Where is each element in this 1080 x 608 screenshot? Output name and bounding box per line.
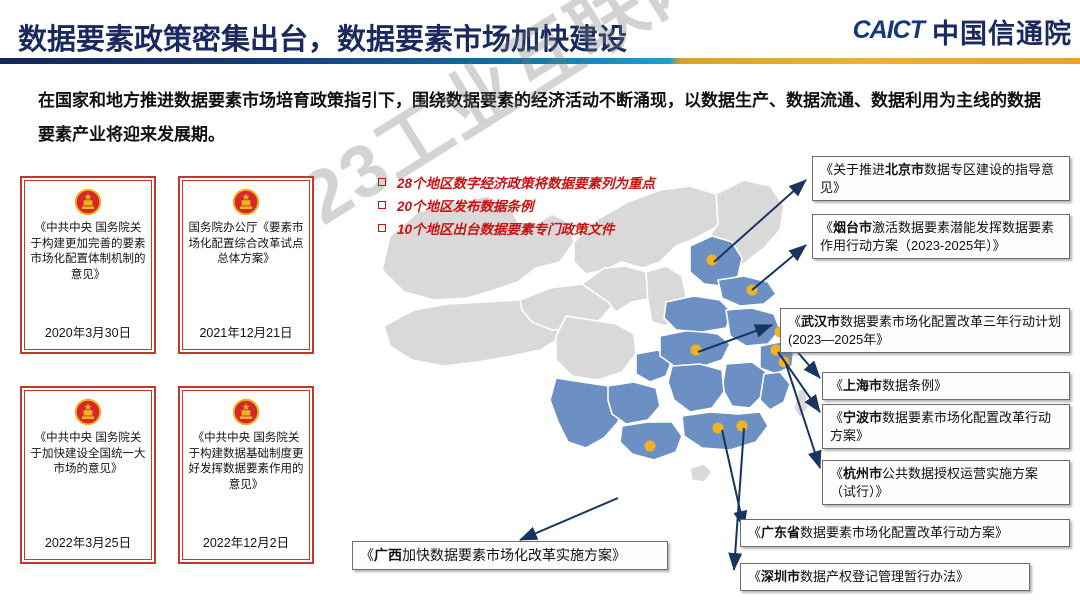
bullet-item: 28个地区数字经济政策将数据要素列为重点 — [378, 172, 655, 192]
map-dot-wuhan — [691, 345, 702, 356]
callout-ningbo[interactable]: 《宁波市数据要素市场化配置改革行动方案》 — [822, 404, 1070, 449]
callout-bold: 深圳市 — [761, 569, 800, 584]
page-header: 数据要素政策密集出台，数据要素市场加快建设 CAICT 中国信通院 — [0, 0, 1080, 64]
national-emblem-icon — [74, 188, 102, 216]
policy-card-date: 2022年12月2日 — [203, 532, 289, 553]
callout-guangdong[interactable]: 《广东省数据要素市场化配置改革行动方案》 — [740, 519, 1070, 547]
policy-card-date: 2020年3月30日 — [45, 322, 131, 343]
map-dot-shenzhen — [737, 421, 748, 432]
policy-card[interactable]: 《中共中央 国务院关于构建数据基础制度更好发挥数据要素作用的意见》 2022年1… — [178, 386, 314, 564]
policy-card-inner: 《中共中央 国务院关于构建更加完善的要素市场化配置体制机制的意见》 2020年3… — [24, 180, 152, 350]
callout-pre: 《 — [820, 220, 833, 235]
policy-card-inner: 国务院办公厅《要素市场化配置综合改革试点总体方案》 2021年12月21日 — [182, 180, 310, 350]
map-region-fujian — [760, 372, 790, 410]
callout-bold: 上海市 — [843, 378, 882, 393]
callout-yantai[interactable]: 《烟台市激活数据要素潜能发挥数据要素作用行动方案（2023-2025年）》 — [812, 214, 1070, 259]
map-region-guangdong — [682, 412, 768, 450]
policy-card-title: 国务院办公厅《要素市场化配置综合改革试点总体方案》 — [188, 221, 304, 322]
callout-pre: 《 — [830, 410, 843, 425]
map-dot-beijing — [707, 255, 718, 266]
callout-post: 数据条例》 — [882, 378, 947, 393]
map-dot-guangzhou — [713, 423, 724, 434]
map-dot-yantai — [747, 285, 758, 296]
policy-card-date: 2022年3月25日 — [45, 532, 131, 553]
callout-bold: 北京市 — [885, 162, 924, 177]
callout-guangxi[interactable]: 《广西加快数据要素市场化改革实施方案》 — [352, 541, 668, 570]
map-region-taiwan — [794, 388, 808, 418]
callout-bold: 武汉市 — [801, 314, 840, 329]
policy-card-title: 《中共中央 国务院关于构建更加完善的要素市场化配置体制机制的意见》 — [30, 221, 146, 322]
page-title: 数据要素政策密集出台，数据要素市场加快建设 — [18, 16, 627, 58]
bullet-item: 20个地区发布数据条例 — [378, 195, 655, 215]
map-region-sichuan — [556, 316, 636, 380]
callout-shenzhen[interactable]: 《深圳市数据产权登记管理暂行办法》 — [740, 563, 1030, 591]
callout-post: 数据产权登记管理暂行办法》 — [800, 569, 969, 584]
callout-pre: 《 — [748, 569, 761, 584]
callout-shanghai[interactable]: 《上海市数据条例》 — [822, 372, 1070, 400]
policy-card-title: 《中共中央 国务院关于构建数据基础制度更好发挥数据要素作用的意见》 — [188, 431, 304, 532]
map-region-anhui-jiangsu — [726, 308, 780, 346]
caict-logo-abbr: CAICT — [853, 18, 924, 43]
callout-pre: 《 — [830, 378, 843, 393]
callout-post: 加快数据要素市场化改革实施方案》 — [402, 547, 626, 563]
caict-logo-abbr-wrap: CAICT — [853, 18, 924, 48]
national-emblem-icon — [74, 398, 102, 426]
bullet-item: 10个地区出台数据要素专门政策文件 — [378, 218, 655, 238]
callout-pre: 《 — [360, 547, 374, 563]
callout-bold: 广西 — [374, 547, 402, 563]
highlight-bullet-list: 28个地区数字经济政策将数据要素列为重点 20个地区发布数据条例 10个地区出台… — [378, 172, 655, 241]
square-bullet-icon — [378, 201, 386, 209]
callout-post: 数据要素市场化配置改革行动方案》 — [800, 525, 1008, 540]
callout-bold: 宁波市 — [843, 410, 882, 425]
square-bullet-icon — [378, 178, 386, 186]
policy-card-date: 2021年12月21日 — [199, 322, 292, 343]
map-region-hunan — [668, 364, 724, 412]
square-bullet-icon — [378, 224, 386, 232]
bullet-label: 10个地区出台数据要素专门政策文件 — [397, 218, 615, 238]
callout-wuhan[interactable]: 《武汉市数据要素市场化配置改革三年行动计划(2023—2025年》 — [780, 308, 1070, 353]
callout-bold: 烟台市 — [833, 220, 872, 235]
map-region-jiangxi — [722, 362, 766, 408]
callout-pre: 《 — [830, 466, 843, 481]
subtitle-paragraph: 在国家和地方推进数据要素市场培育政策指引下，围绕数据要素的经济活动不断涌现，以数… — [38, 84, 1053, 152]
callout-beijing[interactable]: 《关于推进北京市数据专区建设的指导意见》 — [812, 156, 1070, 201]
callout-pre: 《关于推进 — [820, 162, 885, 177]
caict-logo-underline — [853, 45, 924, 48]
policy-card[interactable]: 《中共中央 国务院关于加快建设全国统一大市场的意见》 2022年3月25日 — [20, 386, 156, 564]
callout-pre: 《 — [788, 314, 801, 329]
callout-bold: 广东省 — [761, 525, 800, 540]
callout-hangzhou[interactable]: 《杭州市公共数据授权运营实施方案（试行）》 — [822, 460, 1070, 505]
policy-card-title: 《中共中央 国务院关于加快建设全国统一大市场的意见》 — [30, 431, 146, 532]
policy-card[interactable]: 《中共中央 国务院关于构建更加完善的要素市场化配置体制机制的意见》 2020年3… — [20, 176, 156, 354]
map-region-henan — [664, 296, 732, 332]
policy-card[interactable]: 国务院办公厅《要素市场化配置综合改革试点总体方案》 2021年12月21日 — [178, 176, 314, 354]
header-divider-rule — [0, 58, 1080, 64]
caict-logo: CAICT 中国信通院 — [853, 18, 1072, 48]
caict-logo-cn: 中国信通院 — [932, 21, 1072, 48]
map-dot-hangzhou — [779, 357, 790, 368]
policy-card-inner: 《中共中央 国务院关于加快建设全国统一大市场的意见》 2022年3月25日 — [24, 390, 152, 560]
bullet-label: 28个地区数字经济政策将数据要素列为重点 — [397, 172, 655, 192]
national-emblem-icon — [232, 188, 260, 216]
callout-bold: 杭州市 — [843, 466, 882, 481]
map-dot-nanning — [645, 441, 656, 452]
bullet-label: 20个地区发布数据条例 — [397, 195, 534, 215]
map-region-hainan — [690, 464, 712, 482]
policy-card-inner: 《中共中央 国务院关于构建数据基础制度更好发挥数据要素作用的意见》 2022年1… — [182, 390, 310, 560]
national-emblem-icon — [232, 398, 260, 426]
callout-pre: 《 — [748, 525, 761, 540]
